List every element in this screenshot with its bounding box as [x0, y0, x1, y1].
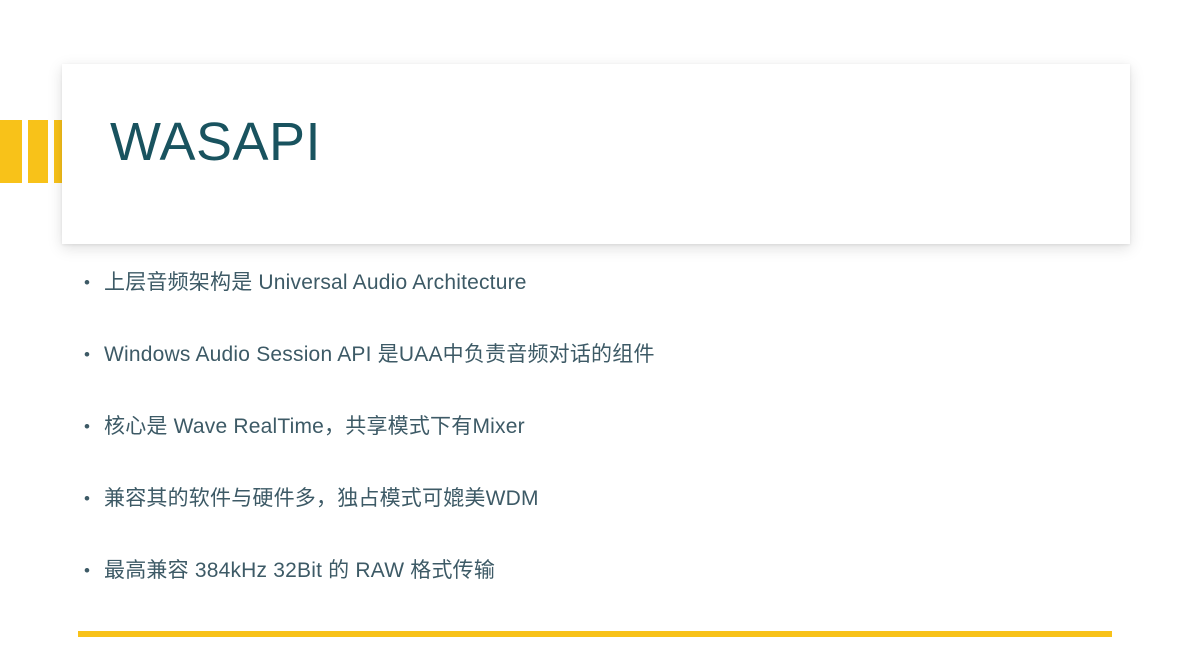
bullet-list: • 上层音频架构是 Universal Audio Architecture •… — [78, 268, 1128, 628]
list-item-label: 最高兼容 384kHz 32Bit 的 RAW 格式传输 — [104, 556, 1128, 586]
bullet-point-icon: • — [78, 340, 104, 370]
list-item: • 最高兼容 384kHz 32Bit 的 RAW 格式传输 — [78, 556, 1128, 628]
bullet-point-icon: • — [78, 484, 104, 514]
bottom-accent-rule — [78, 631, 1112, 637]
list-item: • Windows Audio Session API 是UAA中负责音频对话的… — [78, 340, 1128, 412]
bullet-point-icon: • — [78, 556, 104, 586]
list-item: • 上层音频架构是 Universal Audio Architecture — [78, 268, 1128, 340]
accent-bar-group — [0, 120, 70, 183]
list-item: • 核心是 Wave RealTime，共享模式下有Mixer — [78, 412, 1128, 484]
slide-canvas: WASAPI • 上层音频架构是 Universal Audio Archite… — [0, 0, 1192, 671]
list-item: • 兼容其的软件与硬件多，独占模式可媲美WDM — [78, 484, 1128, 556]
list-item-label: Windows Audio Session API 是UAA中负责音频对话的组件 — [104, 340, 1128, 370]
list-item-label: 核心是 Wave RealTime，共享模式下有Mixer — [104, 412, 1128, 442]
title-card: WASAPI — [62, 64, 1130, 244]
bullet-point-icon: • — [78, 412, 104, 442]
accent-bar-1 — [0, 120, 22, 183]
bullet-point-icon: • — [78, 268, 104, 298]
accent-bar-2 — [28, 120, 48, 183]
list-item-label: 上层音频架构是 Universal Audio Architecture — [104, 268, 1128, 298]
slide-title: WASAPI — [110, 114, 321, 171]
list-item-label: 兼容其的软件与硬件多，独占模式可媲美WDM — [104, 484, 1128, 514]
